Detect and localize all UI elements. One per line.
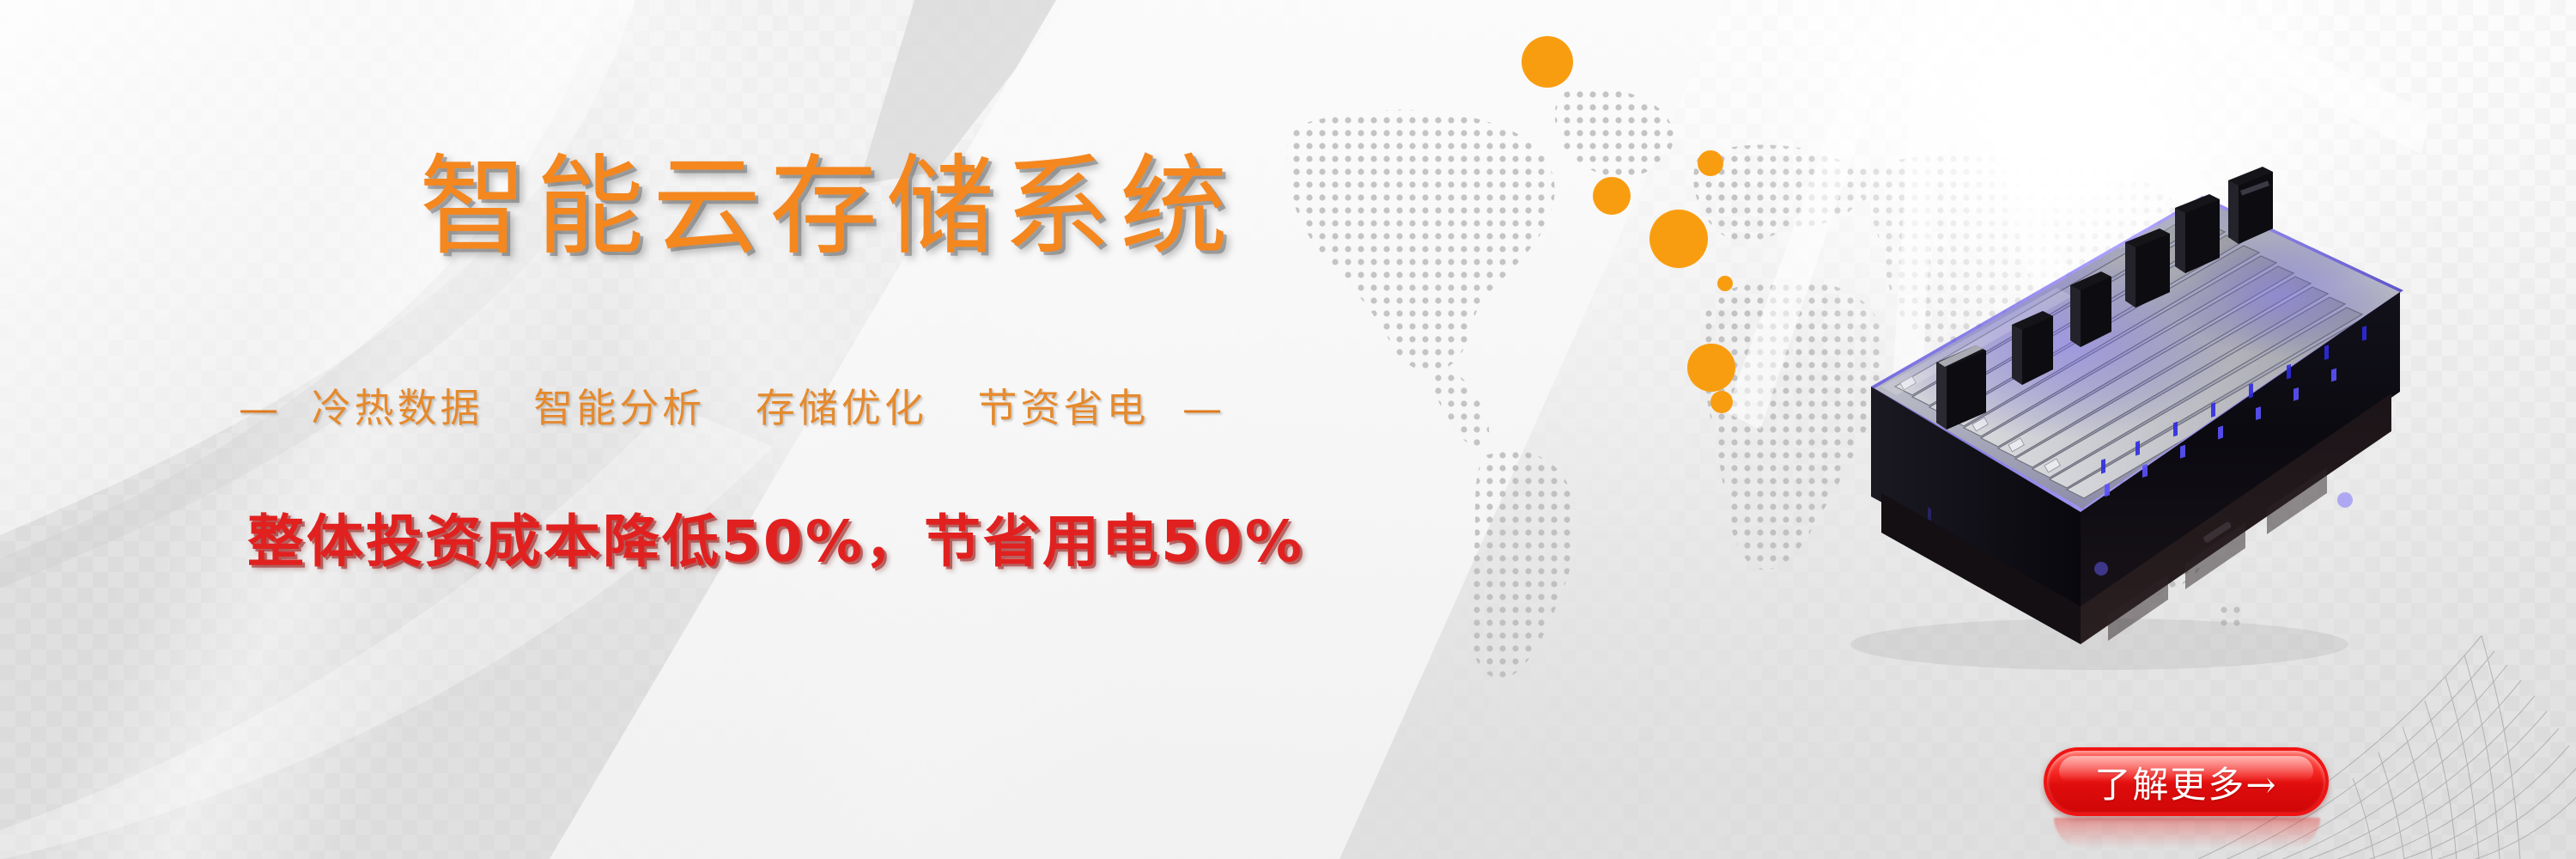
hero-banner: 智能云存储系统 — 冷热数据 智能分析 存储优化 节资省电 — 整体投资成本降低… — [0, 0, 2576, 859]
learn-more-button[interactable]: 了解更多→ — [2044, 747, 2329, 816]
keyword-energy-saving: 节资省电 — [978, 385, 1150, 431]
trail-dash: — — [1182, 385, 1222, 431]
cta-reflection — [2054, 818, 2320, 849]
promo-statement: 整体投资成本降低50%，节省用电50% — [247, 514, 1304, 570]
lead-dash: — — [239, 385, 278, 431]
feature-keywords: — 冷热数据 智能分析 存储优化 节资省电 — — [239, 388, 1222, 428]
banner-content: 智能云存储系统 — 冷热数据 智能分析 存储优化 节资省电 — 整体投资成本降低… — [0, 0, 2576, 859]
keyword-smart-analysis: 智能分析 — [533, 385, 705, 431]
keyword-storage-optimization: 存储优化 — [756, 385, 927, 431]
page-title: 智能云存储系统 — [419, 153, 1236, 261]
keyword-cold-hot-data: 冷热数据 — [312, 385, 483, 431]
learn-more-label: 了解更多→ — [2094, 756, 2277, 808]
